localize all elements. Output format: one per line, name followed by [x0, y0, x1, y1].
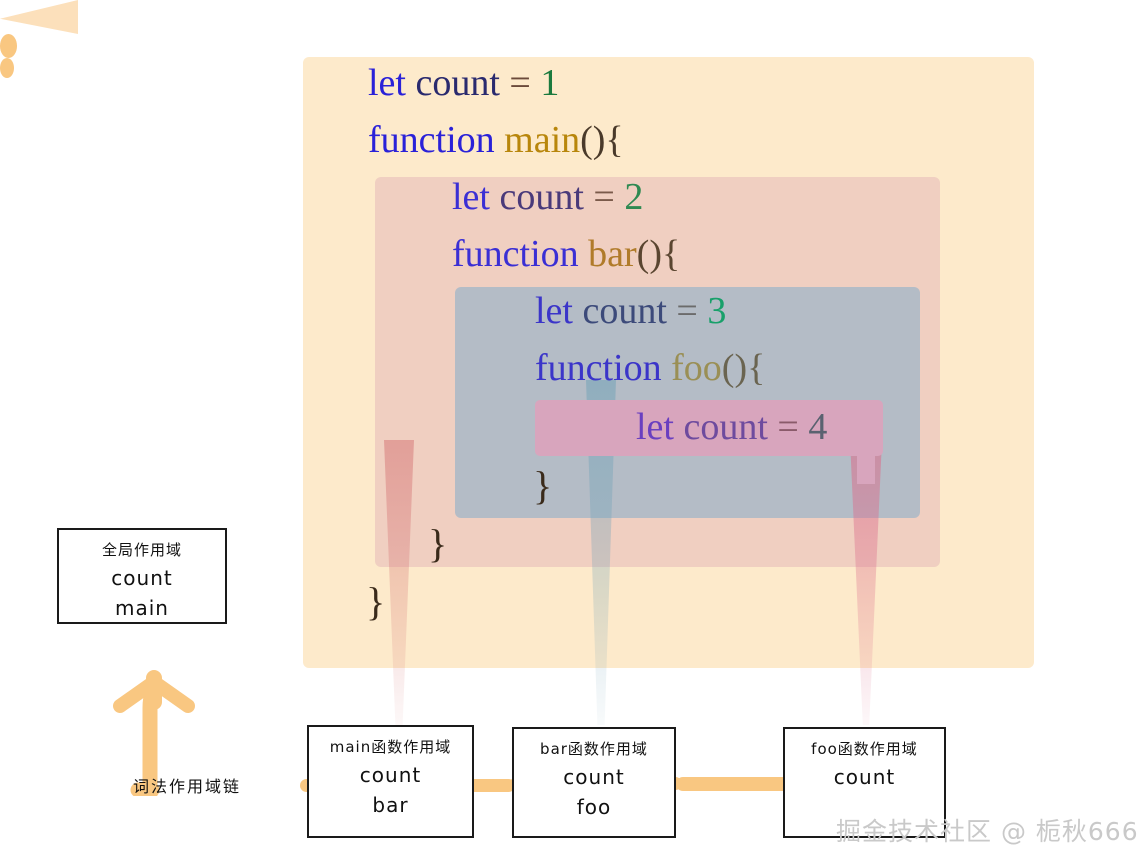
scope-box-main-entry-count: count	[309, 763, 472, 787]
scope-chain-start-dot	[0, 58, 14, 78]
identifier-count: count	[499, 176, 593, 218]
scope-box-main-title: main函数作用域	[309, 736, 472, 757]
scope-box-bar[interactable]: bar函数作用域 count foo	[512, 727, 676, 838]
scope-box-foo-title: foo函数作用域	[785, 738, 944, 759]
keyword-function: function	[535, 347, 671, 389]
operator-equals: =	[509, 62, 540, 104]
code-line-function-bar: function bar(){	[452, 235, 680, 273]
lexical-scope-chain-label: 词法作用域链	[133, 773, 241, 797]
scope-box-bar-entry-count: count	[514, 765, 674, 789]
keyword-let: let	[636, 406, 683, 448]
code-line-main-let-count: let count = 2	[452, 178, 643, 216]
keyword-let: let	[452, 176, 499, 218]
scope-box-global-entry-count: count	[59, 566, 225, 590]
scope-chain-endpoint-dot	[0, 34, 17, 58]
operator-equals: =	[593, 176, 624, 218]
operator-equals: =	[777, 406, 808, 448]
scope-box-global-title: 全局作用域	[59, 539, 225, 560]
keyword-function: function	[452, 233, 588, 275]
closing-brace-main: }	[366, 582, 385, 622]
identifier-count: count	[683, 406, 777, 448]
scope-box-main-entry-bar: bar	[309, 793, 472, 817]
punctuation-paren-brace: (){	[580, 119, 624, 161]
identifier-count: count	[415, 62, 509, 104]
scope-chain-segment-foo-end	[676, 777, 794, 791]
number-value: 1	[540, 62, 559, 104]
function-name-main: main	[504, 119, 580, 161]
scope-box-main[interactable]: main函数作用域 count bar	[307, 725, 474, 838]
scope-box-global[interactable]: 全局作用域 count main	[57, 528, 227, 624]
number-value: 2	[624, 176, 643, 218]
keyword-let: let	[368, 62, 415, 104]
diagram-canvas: let count = 1 function main(){ let count…	[0, 0, 1142, 864]
code-line-function-foo: function foo(){	[535, 349, 765, 387]
scope-box-bar-entry-foo: foo	[514, 795, 674, 819]
scope-box-bar-title: bar函数作用域	[514, 738, 674, 759]
number-value: 3	[707, 290, 726, 332]
function-name-foo: foo	[671, 347, 722, 389]
code-line-function-main: function main(){	[368, 121, 624, 159]
scope-box-foo-entry-count: count	[785, 765, 944, 789]
function-name-bar: bar	[588, 233, 637, 275]
punctuation-paren-brace: (){	[637, 233, 681, 275]
scope-box-global-entry-main: main	[59, 596, 225, 620]
operator-equals: =	[676, 290, 707, 332]
keyword-function: function	[368, 119, 504, 161]
global-scope-pointer-arrow	[0, 0, 78, 34]
keyword-let: let	[535, 290, 582, 332]
code-line-foo-let-count: let count = 4	[636, 408, 827, 446]
watermark: 掘金技术社区 @ 栀秋666	[836, 812, 1139, 848]
identifier-count: count	[582, 290, 676, 332]
punctuation-paren-brace: (){	[722, 347, 766, 389]
number-value: 4	[808, 406, 827, 448]
closing-brace-bar: }	[428, 524, 447, 564]
code-line-bar-let-count: let count = 3	[535, 292, 726, 330]
code-line-global-let-count: let count = 1	[368, 64, 559, 102]
closing-brace-foo: }	[533, 466, 552, 506]
